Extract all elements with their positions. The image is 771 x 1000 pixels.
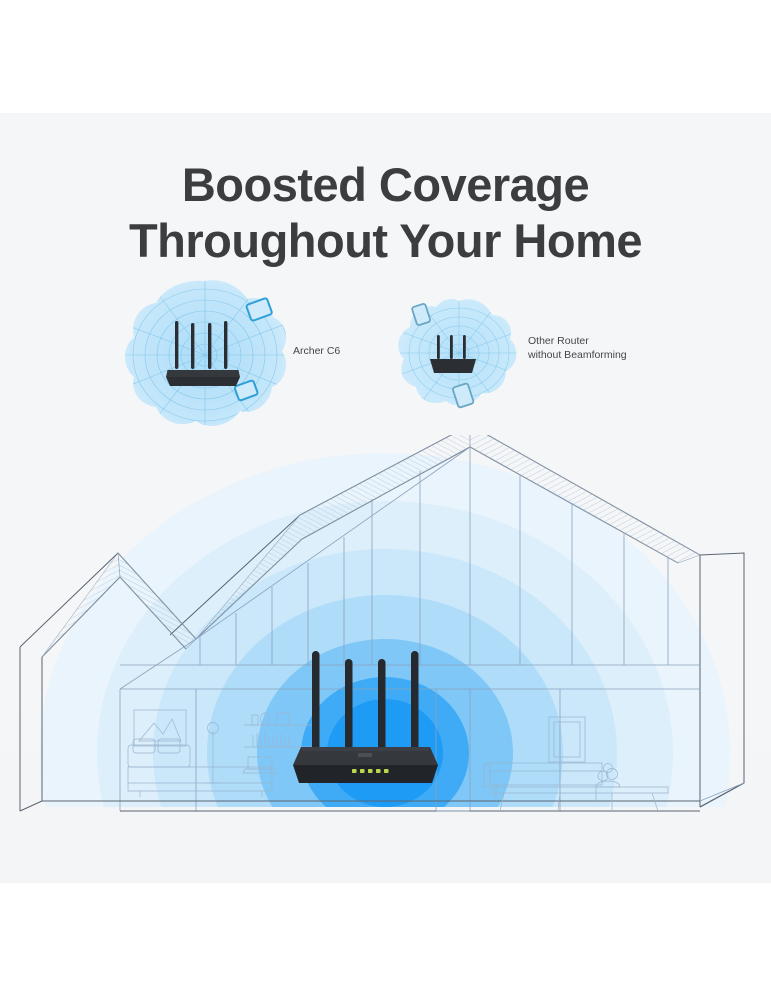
marketing-banner: Boosted Coverage Throughout Your Home — [0, 0, 771, 1000]
content-panel: Boosted Coverage Throughout Your Home — [0, 113, 771, 883]
comparison-label-archer-c6: Archer C6 — [293, 345, 340, 359]
comparison-item-archer-c6 — [118, 273, 293, 441]
headline-line-2: Throughout Your Home — [0, 213, 771, 269]
comparison-label-other-router: Other Routerwithout Beamforming — [528, 335, 627, 362]
page-title: Boosted Coverage Throughout Your Home — [0, 157, 771, 269]
coverage-blob-large-icon — [118, 273, 293, 441]
headline-line-1: Boosted Coverage — [182, 158, 589, 211]
coverage-comparison: Archer C6 — [0, 273, 771, 443]
comparison-item-other-router — [392, 291, 527, 419]
house-cutaway-illustration — [0, 435, 771, 883]
coverage-blob-small-icon — [392, 291, 527, 419]
